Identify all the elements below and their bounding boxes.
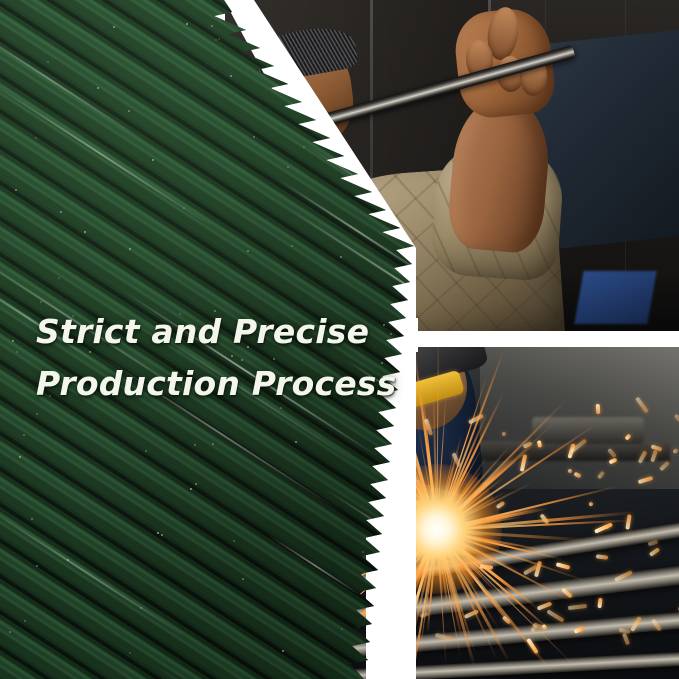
- spark-ember: [595, 554, 607, 559]
- headline-block: Strict and Precise Production Process: [36, 306, 406, 410]
- spark-ember: [595, 404, 600, 414]
- product-banner: Strict and Precise Production Process: [0, 0, 679, 679]
- headline-line-1: Strict and Precise: [36, 306, 406, 358]
- photo-bottom-spark-burst: [372, 464, 502, 594]
- headline-line-2: Production Process: [36, 358, 406, 410]
- photo-top-blue-object: [574, 271, 656, 324]
